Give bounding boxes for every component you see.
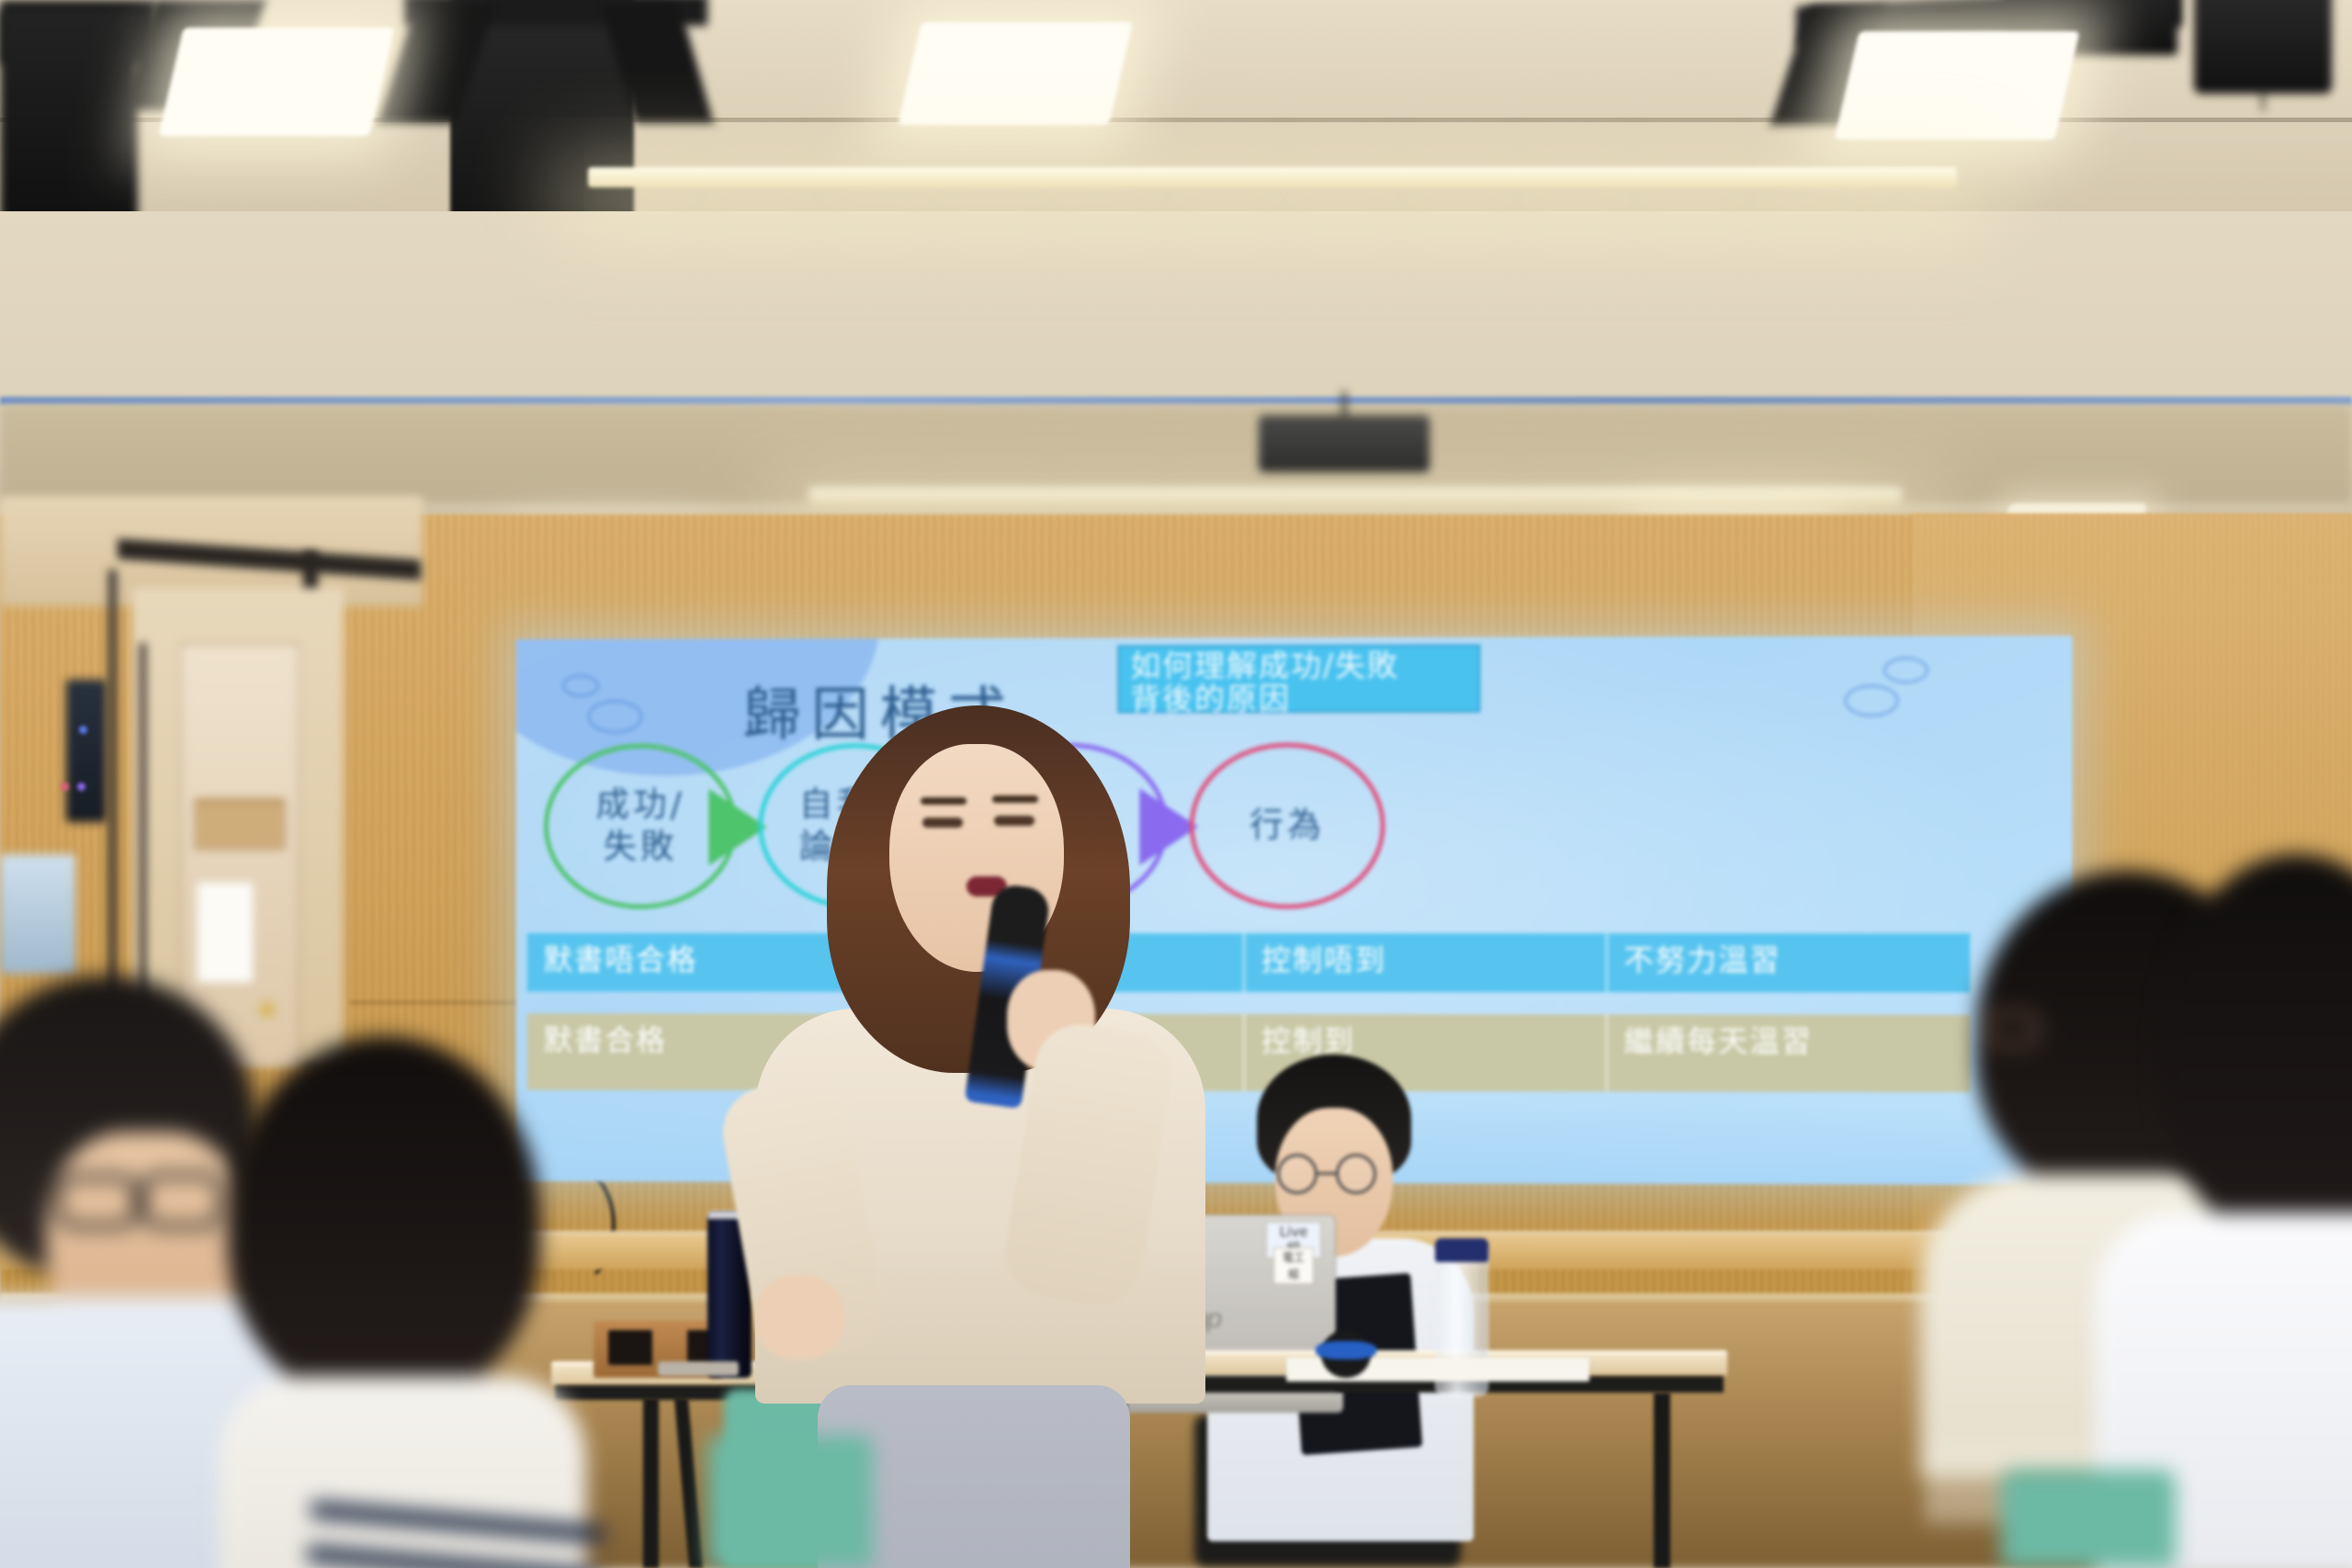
right-table-leg-2 [1654, 1393, 1670, 1568]
audience-front-left-woman [228, 1036, 577, 1568]
stage-spotlight-far-right [2194, 0, 2332, 94]
presenter-eye-right [994, 816, 1035, 826]
presenter-eye-left [922, 818, 963, 828]
fluorescent-tube-upper [588, 167, 1957, 187]
audience-man-glasses-right [140, 1172, 224, 1229]
hanging-speaker-left [0, 9, 138, 239]
slide-deco-ring-2 [587, 699, 643, 734]
table-microphone-band [1316, 1341, 1376, 1359]
av-control-panel[interactable] [66, 680, 107, 822]
attribution-flow-diagram: 成功/ 失敗 自我推 論原因 心態 [516, 739, 2073, 915]
audience-woman-top [219, 1376, 586, 1568]
audience-chair-left [707, 1435, 873, 1568]
door-vent [195, 799, 285, 849]
slide-deco-ring-1 [561, 674, 599, 698]
operator-glasses-right-lens [1336, 1154, 1376, 1194]
ceiling-panel-light-2 [898, 22, 1133, 125]
slide-deco-ring-3 [1883, 656, 1929, 683]
audience-man-glasses-left [55, 1174, 140, 1229]
control-panel-led-purple [77, 783, 85, 791]
presenter-eyebrow-right [992, 795, 1038, 803]
ceiling-panel-light-3 [1834, 31, 2079, 140]
fluorescent-tube-lower [808, 487, 1902, 505]
presenter-eyebrow-left [921, 797, 967, 805]
presenter-hand-left [755, 1275, 843, 1359]
ceiling-panel-light-1 [158, 28, 394, 136]
audience-shawl-woman-glasses [1984, 1010, 2040, 1047]
door-notice-paper [197, 882, 254, 983]
smartphone [658, 1361, 739, 1376]
slide-subtitle-box: 如何理解成功/失敗 背後的原因 [1117, 645, 1480, 714]
clear-bottle-cap [1435, 1238, 1488, 1262]
audience-chair-right [2001, 1470, 2176, 1568]
control-panel-led-red [61, 783, 69, 791]
slide-cell: 控制唔到 [1245, 933, 1607, 992]
lecture-hall-photo: 歸因模式 如何理解成功/失敗 背後的原因 成功/ 失敗 自我推 論原因 [0, 0, 2352, 1568]
audience-right-student [2159, 854, 2352, 1568]
blue-wall-trim [0, 397, 2352, 405]
operator-glasses-bridge [1317, 1172, 1338, 1175]
slide-cell: 繼續每天溫習 [1607, 1014, 1970, 1092]
left-table-leg-1 [643, 1398, 659, 1568]
wooden-block-slot-1 [608, 1330, 652, 1365]
control-panel-led-blue [79, 726, 87, 734]
slide-cell: 不努力溫習 [1607, 933, 1970, 992]
audience-woman-hair [228, 1036, 540, 1404]
ceiling-projector [1259, 415, 1430, 472]
wall-monitor [0, 854, 75, 974]
audience-student-hair [2159, 854, 2352, 1240]
slide-deco-ring-4 [1844, 684, 1900, 717]
presenter [827, 705, 1286, 1568]
